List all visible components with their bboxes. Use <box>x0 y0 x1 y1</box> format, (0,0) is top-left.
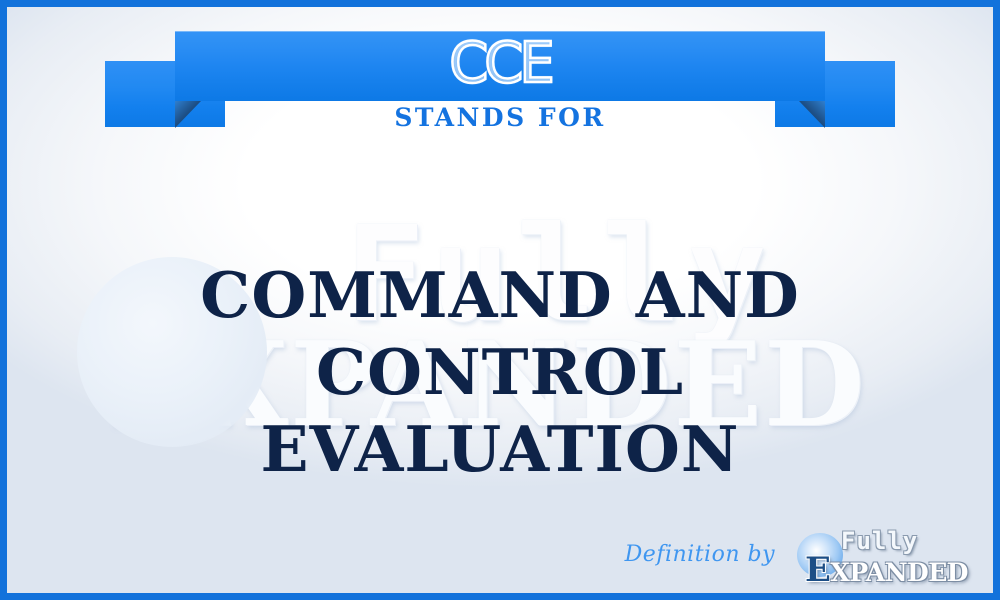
ribbon-center-panel: CCE <box>175 31 825 101</box>
fully-expanded-logo[interactable]: Fully EXPANDED <box>797 529 969 579</box>
logo-expanded-text: EXPANDED <box>805 550 968 590</box>
definition-line-1: COMMAND AND CONTROL <box>31 257 969 411</box>
acronym-text: CCE <box>449 36 551 96</box>
logo-expanded-cap: E <box>805 550 830 590</box>
footer-credit: Definition by Fully EXPANDED <box>625 529 969 579</box>
definition-card: Fully EXPANDED CCE STANDS FOR COMMAND AN… <box>0 0 1000 600</box>
definition-line-2: EVALUATION <box>31 411 969 488</box>
ribbon-banner: CCE STANDS FOR <box>7 31 993 131</box>
stands-for-label: STANDS FOR <box>7 103 993 132</box>
definition-text: COMMAND AND CONTROL EVALUATION <box>31 257 969 488</box>
definition-by-label: Definition by <box>625 542 775 567</box>
logo-expanded-rest: XPANDED <box>830 558 968 587</box>
